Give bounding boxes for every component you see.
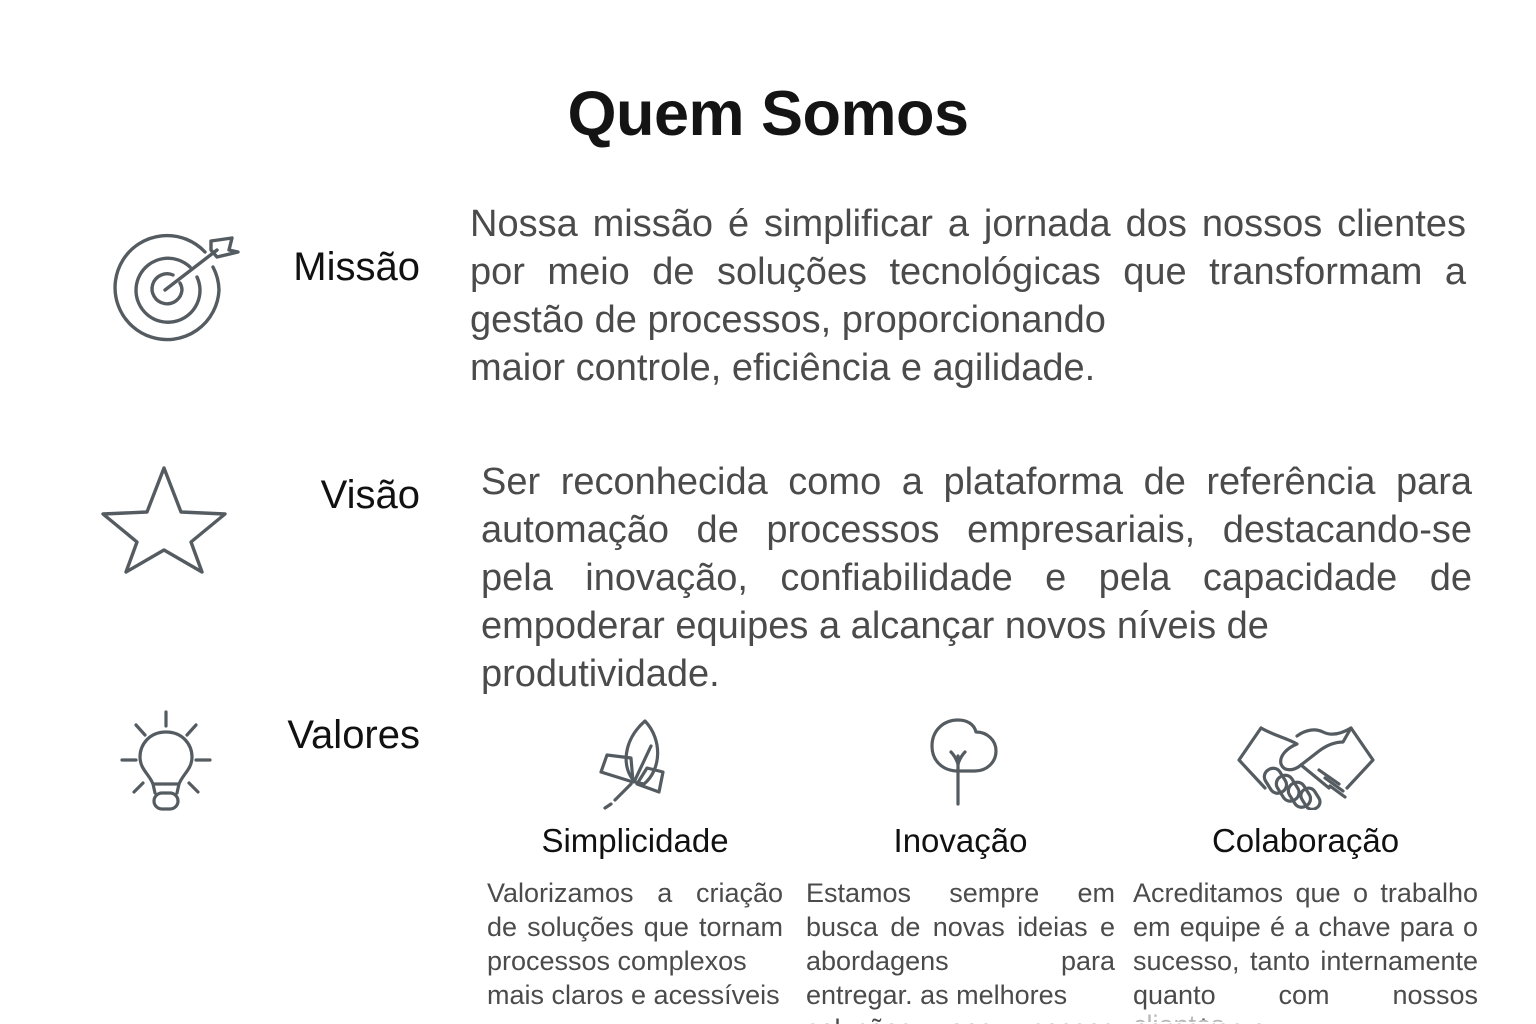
page-title: Quem Somos xyxy=(0,83,1536,146)
value-desc-colaboracao: Acreditamos que o trabalho em equipe é a… xyxy=(1133,876,1478,1024)
rocket-icon xyxy=(487,714,783,810)
value-desc-body: Valorizamos a criação de soluções que to… xyxy=(487,878,783,976)
value-desc-lastline: mais claros e acessíveis xyxy=(487,978,783,1012)
value-desc-simplicidade: Valorizamos a criação de soluções que to… xyxy=(487,876,783,1012)
handshake-icon xyxy=(1133,714,1478,810)
mission-paragraph: Nossa missão é simplificar a jornada dos… xyxy=(470,200,1466,392)
value-desc-inovacao: Estamos sempre em busca de novas ideias … xyxy=(806,876,1115,1024)
value-card-simplicidade: Simplicidade Valorizamos a criação de so… xyxy=(487,714,783,1012)
vision-paragraph-lastline: produtividade. xyxy=(481,650,1472,698)
value-card-colaboracao: Colaboração Acreditamos que o trabalho e… xyxy=(1133,714,1478,1024)
clipped-text-artifact: clientes xyxy=(1133,1008,1478,1022)
value-desc-body: Estamos sempre em busca de novas ideias … xyxy=(806,878,1115,1010)
section-label-vision: Visão xyxy=(180,473,420,517)
value-desc-lastline: soluções aos nossos clientes xyxy=(806,1012,1115,1024)
vision-paragraph-body: Ser reconhecida como a plataforma de ref… xyxy=(481,461,1472,647)
vision-paragraph: Ser reconhecida como a plataforma de ref… xyxy=(481,458,1472,698)
mission-paragraph-body: Nossa missão é simplificar a jornada dos… xyxy=(470,203,1466,341)
value-title-simplicidade: Simplicidade xyxy=(487,822,783,860)
value-title-inovacao: Inovação xyxy=(806,822,1115,860)
value-title-colaboracao: Colaboração xyxy=(1133,822,1478,860)
section-label-mission: Missão xyxy=(180,245,420,289)
mission-paragraph-lastline: maior controle, eficiência e agilidade. xyxy=(470,344,1466,392)
value-card-inovacao: Inovação Estamos sempre em busca de nova… xyxy=(806,714,1115,1024)
value-desc-body: Acreditamos que o trabalho em equipe é a… xyxy=(1133,878,1478,1024)
tree-icon xyxy=(806,714,1115,810)
section-label-values: Valores xyxy=(170,713,420,757)
